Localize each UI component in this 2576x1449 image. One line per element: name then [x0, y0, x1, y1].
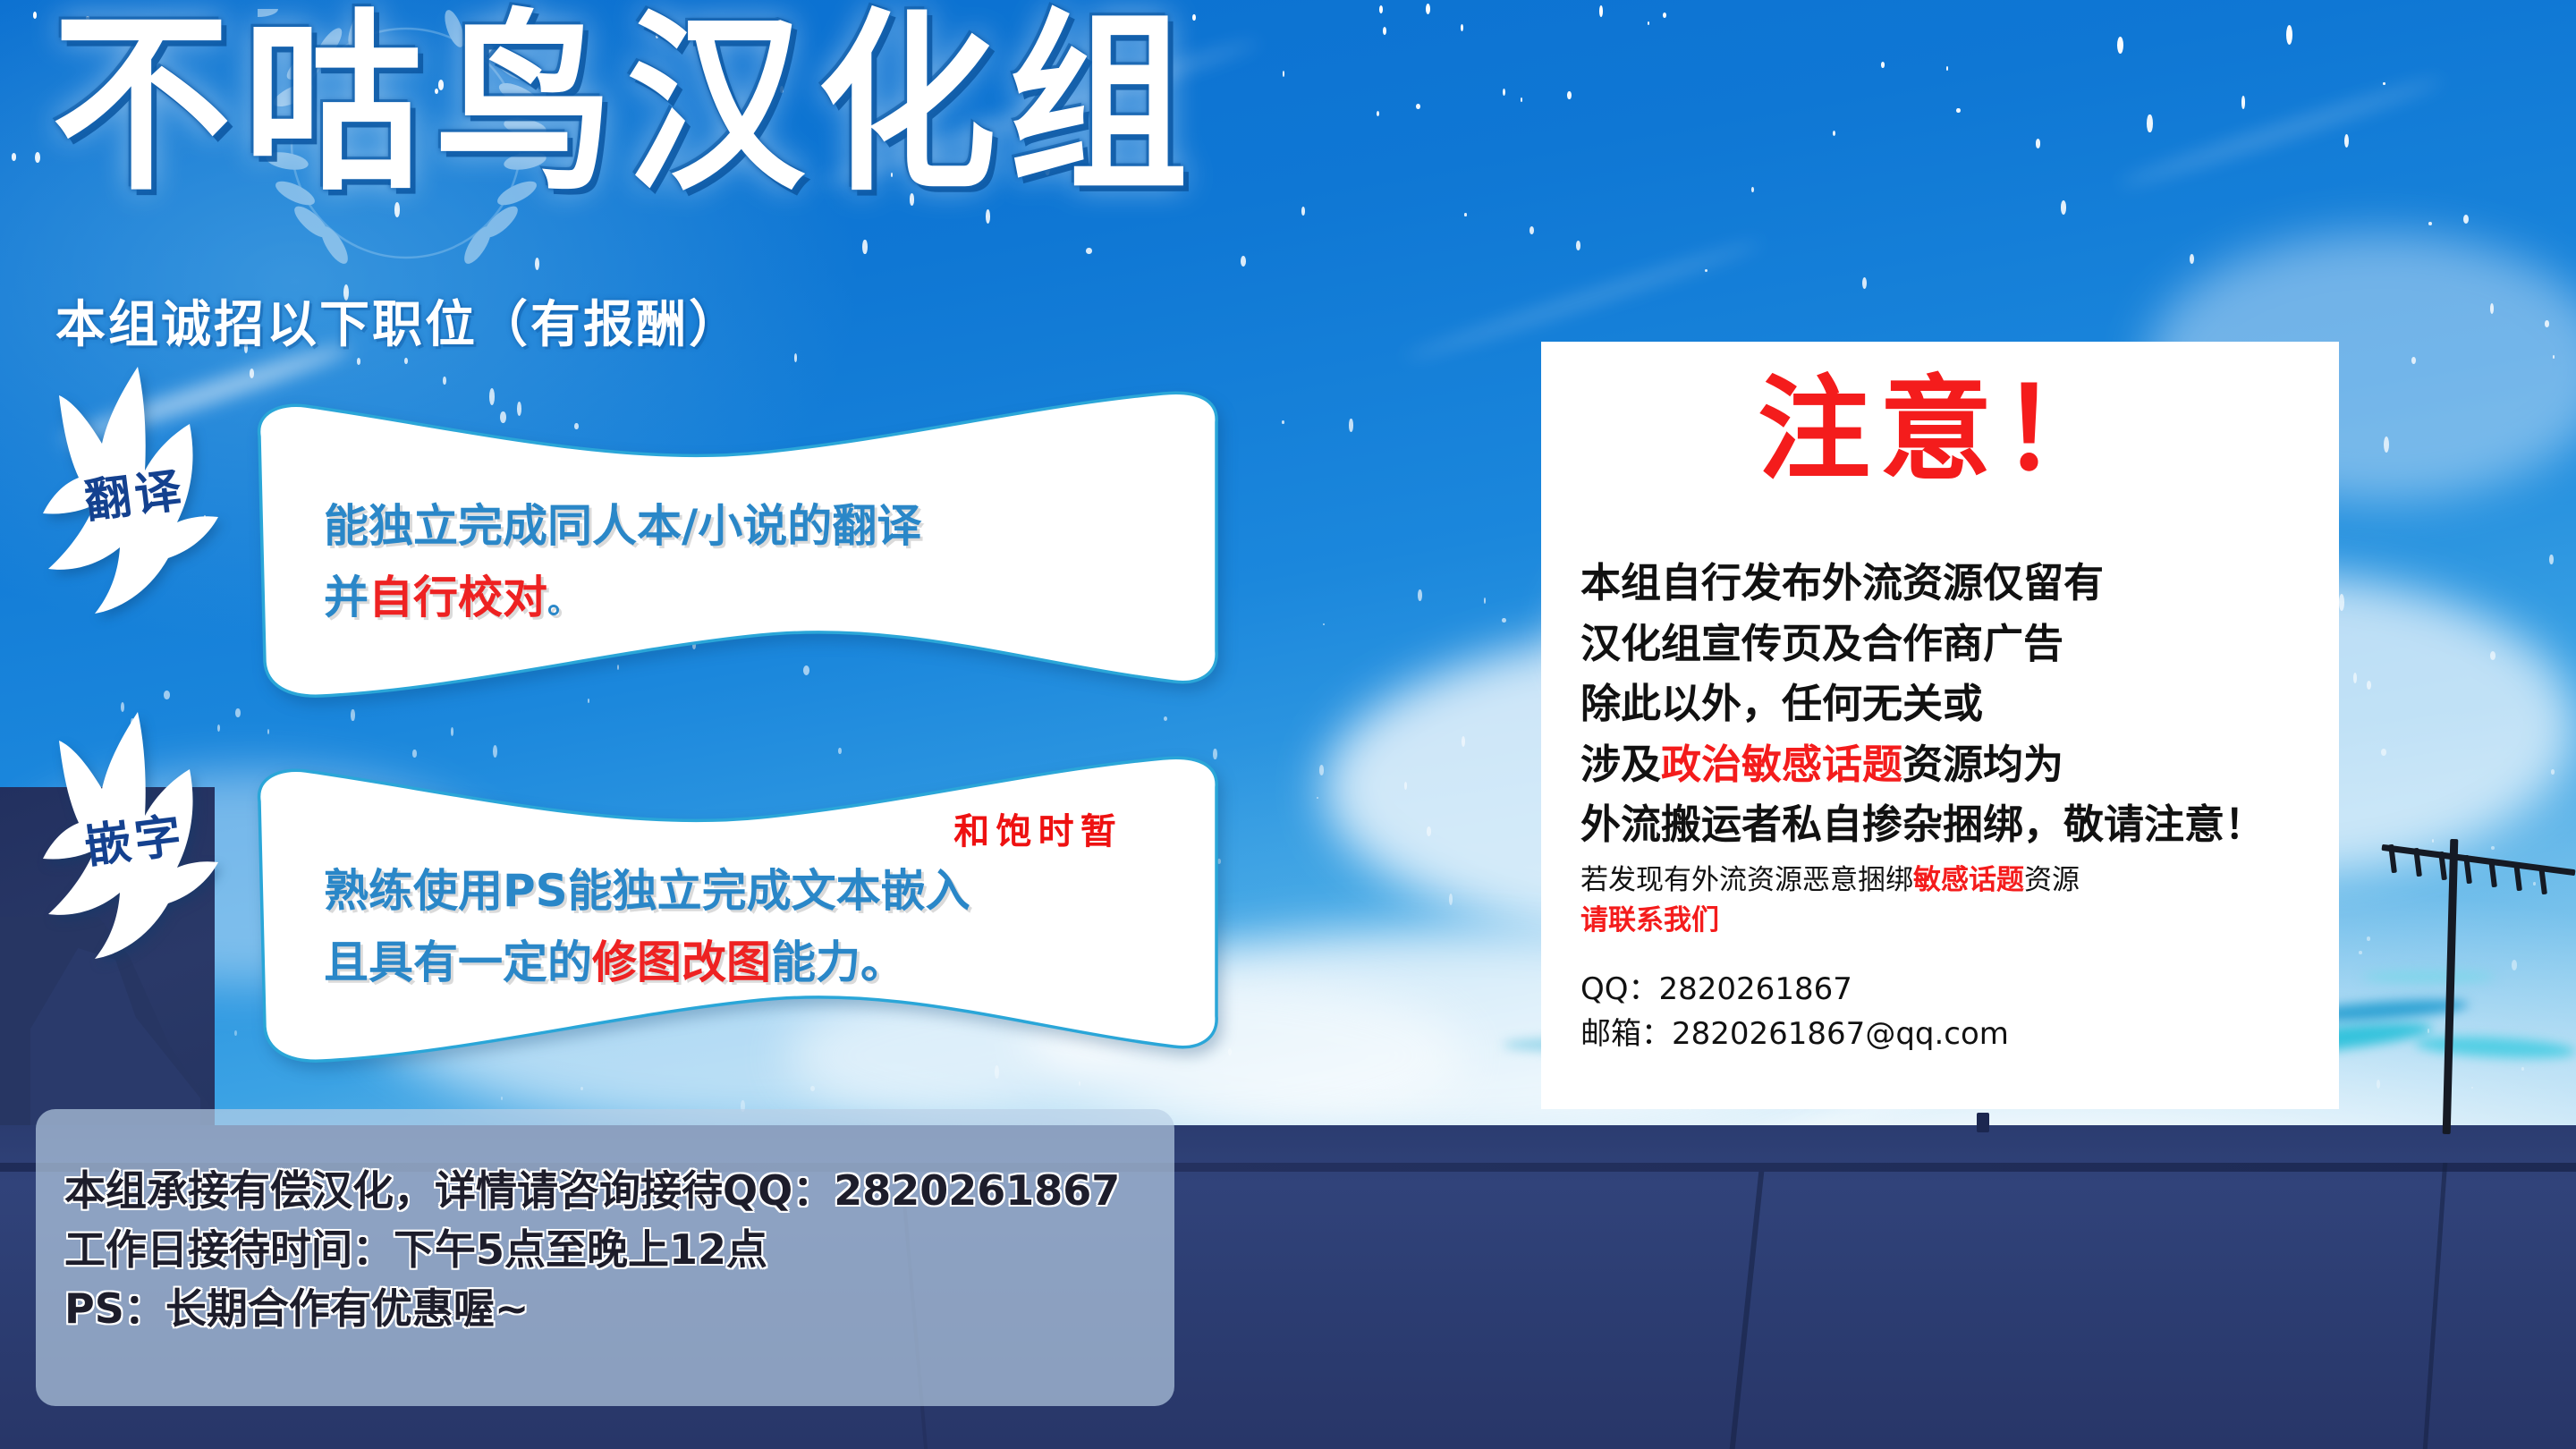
footnote-post: 资源: [2024, 864, 2080, 896]
notice-highlight: 政治敏感话题: [1661, 741, 1902, 788]
contact-qq[interactable]: QQ：2820261867: [1580, 968, 2326, 1013]
commission-line-1: 本组承接有偿汉化，详情请咨询接待QQ：2820261867: [64, 1161, 1165, 1220]
notice-line: 除此以外，任何无关或: [1580, 674, 2321, 734]
line2-highlight: 修图改图: [592, 936, 771, 988]
contact-us-callout: 请联系我们: [1580, 901, 2326, 941]
notice-pre: 涉及: [1580, 741, 1661, 788]
notice-footnote: 若发现有外流资源恶意捆绑敏感话题资源 请联系我们: [1580, 860, 2326, 940]
notice-contact: QQ：2820261867 邮箱：2820261867@qq.com: [1580, 968, 2326, 1056]
rooftop-vent: [1977, 1113, 1989, 1132]
line2-highlight: 自行校对: [369, 572, 547, 623]
line2-prefix: 并: [324, 572, 369, 623]
poster-canvas: 不咕鸟汉化组 本组诚招以下职位（有报酬） 翻译 能独立完成同人本/小说的翻译 并…: [0, 0, 2576, 1449]
notice-line: 本组自行发布外流资源仅留有: [1580, 553, 2321, 614]
role-badge-label: 翻译: [80, 452, 188, 530]
notice-post: 资源均为: [1902, 741, 2063, 788]
notice-line: 涉及政治敏感话题资源均为: [1580, 734, 2321, 795]
role-requirement-line2: 并自行校对。: [324, 563, 580, 631]
notice-card: 注意！ 本组自行发布外流资源仅留有 汉化组宣传页及合作商广告 除此以外，任何无关…: [1541, 342, 2339, 1109]
role-badge-label: 嵌字: [80, 797, 188, 876]
line2-prefix: 且具有一定的: [324, 936, 592, 988]
commission-info-box: 本组承接有偿汉化，详情请咨询接待QQ：2820261867 工作日接待时间：下午…: [36, 1109, 1174, 1406]
footnote-highlight: 敏感话题: [1913, 864, 2024, 896]
page-subtitle: 本组诚招以下职位（有报酬）: [55, 284, 741, 357]
teal-streak: [2361, 970, 2495, 983]
notice-line: 外流搬运者私自掺杂捆绑，敬请注意！: [1580, 794, 2321, 855]
notice-footnote-line: 若发现有外流资源恶意捆绑敏感话题资源: [1580, 860, 2326, 901]
status-badge-saturated: 暂时饱和: [946, 812, 1115, 850]
role-requirement-line1: 熟练使用PS能独立完成文本嵌入: [324, 857, 970, 925]
commission-text: 本组承接有偿汉化，详情请咨询接待QQ：2820261867 工作日接待时间：下午…: [64, 1161, 1165, 1339]
line2-suffix: 。: [547, 584, 580, 621]
line2-suffix: 能力。: [771, 936, 905, 988]
notice-body: 本组自行发布外流资源仅留有 汉化组宣传页及合作商广告 除此以外，任何无关或 涉及…: [1580, 553, 2321, 855]
notice-line: 汉化组宣传页及合作商广告: [1580, 614, 2321, 674]
role-requirement-line1: 能独立完成同人本/小说的翻译: [324, 492, 921, 560]
commission-line-3: PS：长期合作有优惠喔~: [64, 1279, 1165, 1338]
footnote-pre: 若发现有外流资源恶意捆绑: [1580, 864, 1913, 896]
commission-line-2: 工作日接待时间：下午5点至晚上12点: [64, 1220, 1165, 1279]
page-title: 不咕鸟汉化组: [52, 9, 1200, 202]
notice-title: 注意！: [1541, 374, 2339, 487]
contact-email[interactable]: 邮箱：2820261867@qq.com: [1580, 1013, 2326, 1057]
role-requirement-line2: 且具有一定的修图改图能力。: [324, 928, 905, 996]
